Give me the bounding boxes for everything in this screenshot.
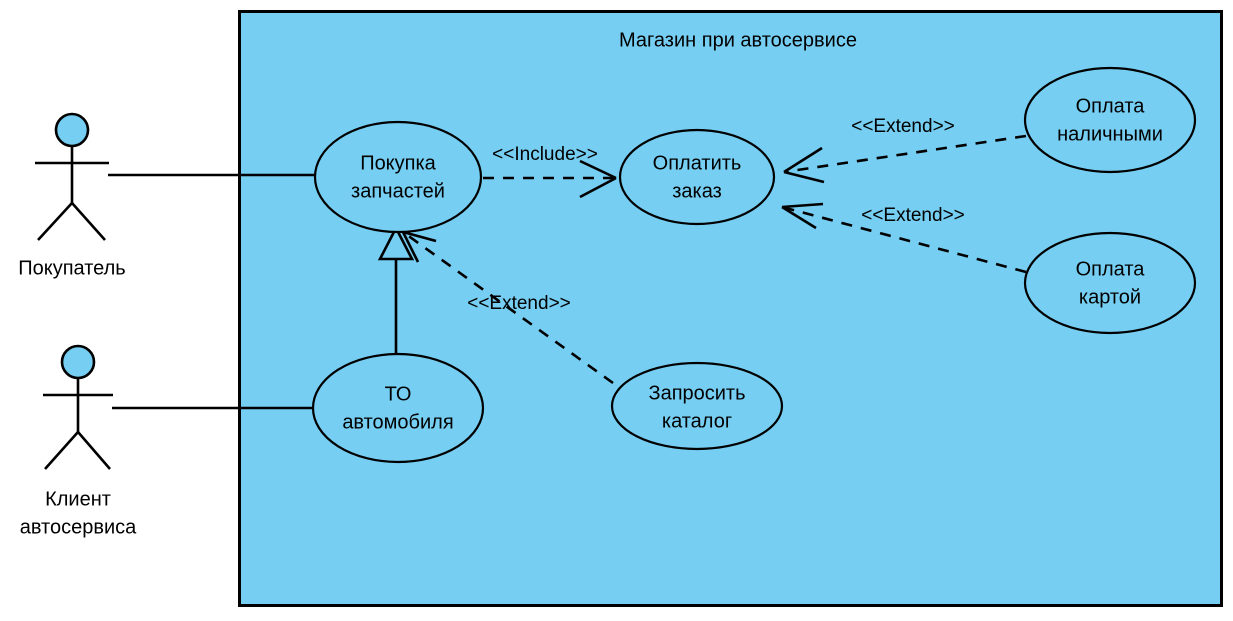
diagram-svg: Магазин при автосервисе Покупатель Клиен… bbox=[0, 0, 1233, 621]
use-case-pay-cash-label-line1: Оплата bbox=[1076, 95, 1146, 117]
actor-buyer-leg-right bbox=[72, 203, 105, 240]
use-case-pay-card-label-line1: Оплата bbox=[1076, 258, 1146, 280]
actor-buyer-leg-left bbox=[38, 203, 72, 240]
actor-buyer-label: Покупатель bbox=[18, 257, 125, 279]
use-case-car-service-ellipse bbox=[313, 354, 483, 462]
use-case-pay-cash-label-line2: наличными bbox=[1057, 123, 1163, 145]
actor-buyer-head-icon bbox=[56, 114, 88, 146]
use-case-request-catalog-label-line1: Запросить bbox=[648, 382, 745, 404]
use-case-buy-parts[interactable]: Покупка запчастей bbox=[315, 122, 481, 232]
use-case-pay-order-label-line1: Оплатить bbox=[653, 152, 742, 174]
actor-service-client-label-line2: автосервиса bbox=[20, 516, 137, 538]
use-case-buy-parts-label-line2: запчастей bbox=[351, 180, 445, 202]
use-case-request-catalog[interactable]: Запросить каталог bbox=[612, 363, 782, 449]
use-case-car-service-label-line2: автомобиля bbox=[342, 411, 453, 433]
extend-catalog-label: <<Extend>> bbox=[467, 293, 571, 314]
use-case-car-service-label-line1: ТО bbox=[385, 383, 412, 405]
include-label: <<Include>> bbox=[492, 144, 598, 165]
use-case-request-catalog-label-line2: каталог bbox=[662, 410, 732, 432]
use-case-request-catalog-ellipse bbox=[612, 363, 782, 449]
use-case-pay-order-label-line2: заказ bbox=[672, 180, 722, 202]
use-case-pay-card-label-line2: картой bbox=[1079, 286, 1141, 308]
use-case-buy-parts-label-line1: Покупка bbox=[360, 152, 436, 174]
actor-service-client-label-line1: Клиент bbox=[45, 488, 111, 510]
actor-service-client[interactable]: Клиент автосервиса bbox=[20, 346, 137, 538]
actor-service-client-head-icon bbox=[62, 346, 94, 378]
use-case-pay-cash-ellipse bbox=[1025, 68, 1195, 172]
extend-cash-label: <<Extend>> bbox=[851, 116, 955, 137]
use-case-pay-order-ellipse bbox=[620, 130, 774, 224]
use-case-buy-parts-ellipse bbox=[315, 122, 481, 232]
actor-buyer[interactable]: Покупатель bbox=[18, 114, 125, 279]
use-case-pay-cash[interactable]: Оплата наличными bbox=[1025, 68, 1195, 172]
extend-card-label: <<Extend>> bbox=[861, 205, 965, 226]
system-boundary-title: Магазин при автосервисе bbox=[619, 29, 857, 51]
use-case-diagram-canvas: Магазин при автосервисе Покупатель Клиен… bbox=[0, 0, 1233, 621]
use-case-pay-order[interactable]: Оплатить заказ bbox=[620, 130, 774, 224]
use-case-car-service[interactable]: ТО автомобиля bbox=[313, 354, 483, 462]
use-case-pay-card-ellipse bbox=[1025, 233, 1195, 333]
actor-service-client-leg-left bbox=[45, 432, 78, 469]
actor-service-client-leg-right bbox=[78, 432, 110, 469]
use-case-pay-card[interactable]: Оплата картой bbox=[1025, 233, 1195, 333]
